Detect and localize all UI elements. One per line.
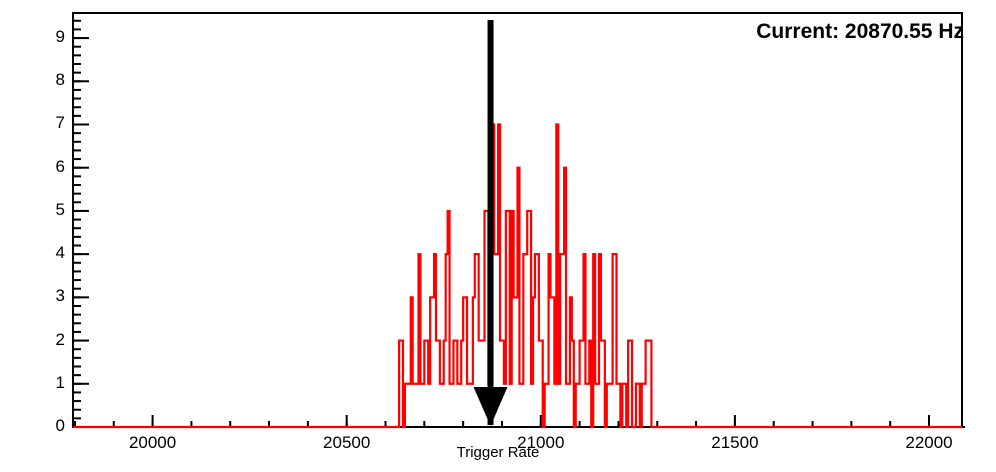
- x-axis-ticks: [75, 415, 929, 427]
- y-tick-label-6: 6: [27, 157, 65, 177]
- y-tick-label-1: 1: [27, 373, 65, 393]
- x-axis-title: Trigger Rate: [0, 444, 996, 461]
- status-badge: Current: 20870.55 Hz: [756, 20, 964, 44]
- current-value-marker: [474, 20, 508, 426]
- y-axis-ticks: [73, 21, 89, 427]
- histogram-plot-canvas: 20000205002100021500220000123456789 Trig…: [0, 0, 996, 472]
- histogram-outline: [73, 124, 962, 427]
- y-tick-label-0: 0: [27, 416, 65, 436]
- y-tick-label-4: 4: [27, 243, 65, 263]
- y-tick-label-3: 3: [27, 286, 65, 306]
- y-tick-label-5: 5: [27, 200, 65, 220]
- plot-svg-layer: [0, 0, 996, 472]
- y-tick-label-8: 8: [27, 70, 65, 90]
- y-tick-label-7: 7: [27, 113, 65, 133]
- y-tick-label-2: 2: [27, 330, 65, 350]
- y-tick-label-9: 9: [27, 27, 65, 47]
- marker-arrowhead-icon: [474, 387, 508, 426]
